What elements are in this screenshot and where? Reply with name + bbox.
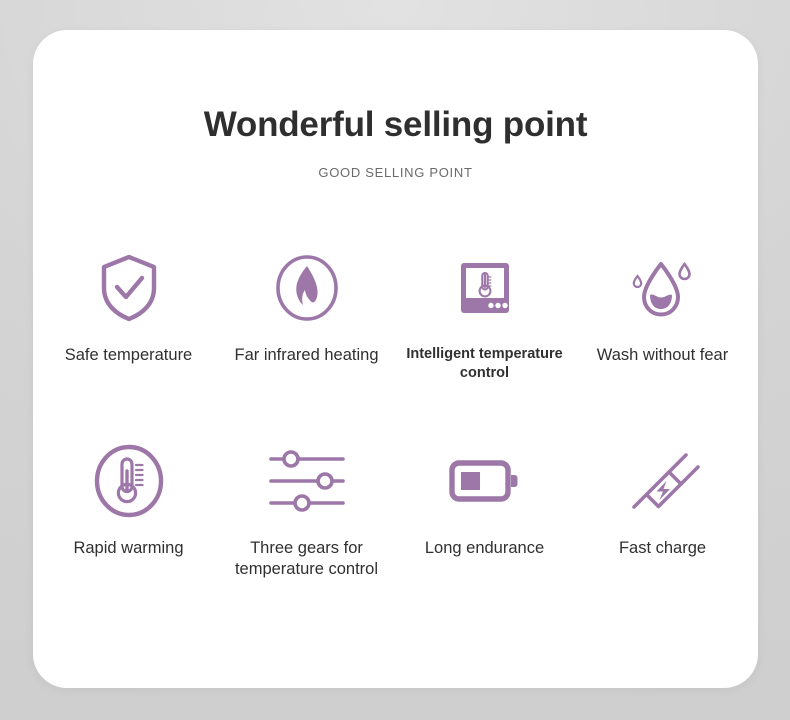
feature-row-2: Rapid warming <box>33 438 758 581</box>
water-drop-icon <box>628 245 698 331</box>
sliders-icon <box>265 438 349 524</box>
feature-wash-without-fear[interactable]: Wash without fear <box>574 245 752 366</box>
card-header: Wonderful selling point GOOD SELLING POI… <box>33 30 758 180</box>
thermometer-circle-icon <box>91 438 167 524</box>
feature-far-infrared-heating[interactable]: Far infrared heating <box>218 245 396 366</box>
feature-label: Long endurance <box>423 538 546 559</box>
feature-label: Rapid warming <box>71 538 185 559</box>
flame-circle-icon <box>272 245 342 331</box>
page-title: Wonderful selling point <box>33 106 758 145</box>
feature-fast-charge[interactable]: Fast charge <box>574 438 752 559</box>
feature-label: Fast charge <box>617 538 708 559</box>
feature-label: Safe temperature <box>63 345 195 366</box>
feature-row-1: Safe temperature Far infrared heating <box>33 245 758 383</box>
feature-label: Far infrared heating <box>233 345 381 366</box>
shield-check-icon <box>98 245 160 331</box>
feature-label: Three gears for temperature control <box>218 538 396 581</box>
feature-grid: Safe temperature Far infrared heating <box>33 245 758 581</box>
thermostat-panel-icon <box>455 245 515 331</box>
battery-icon <box>447 438 523 524</box>
page-background: Wonderful selling point GOOD SELLING POI… <box>0 0 790 720</box>
feature-three-gears[interactable]: Three gears for temperature control <box>218 438 396 581</box>
feature-intelligent-temperature-control[interactable]: Intelligent temperature control <box>396 245 574 383</box>
feature-card: Wonderful selling point GOOD SELLING POI… <box>33 30 758 688</box>
plug-bolt-icon <box>625 438 701 524</box>
feature-rapid-warming[interactable]: Rapid warming <box>40 438 218 559</box>
feature-long-endurance[interactable]: Long endurance <box>396 438 574 559</box>
feature-label: Intelligent temperature control <box>396 345 574 383</box>
feature-label: Wash without fear <box>595 345 730 366</box>
feature-safe-temperature[interactable]: Safe temperature <box>40 245 218 366</box>
page-subtitle: GOOD SELLING POINT <box>33 165 758 180</box>
